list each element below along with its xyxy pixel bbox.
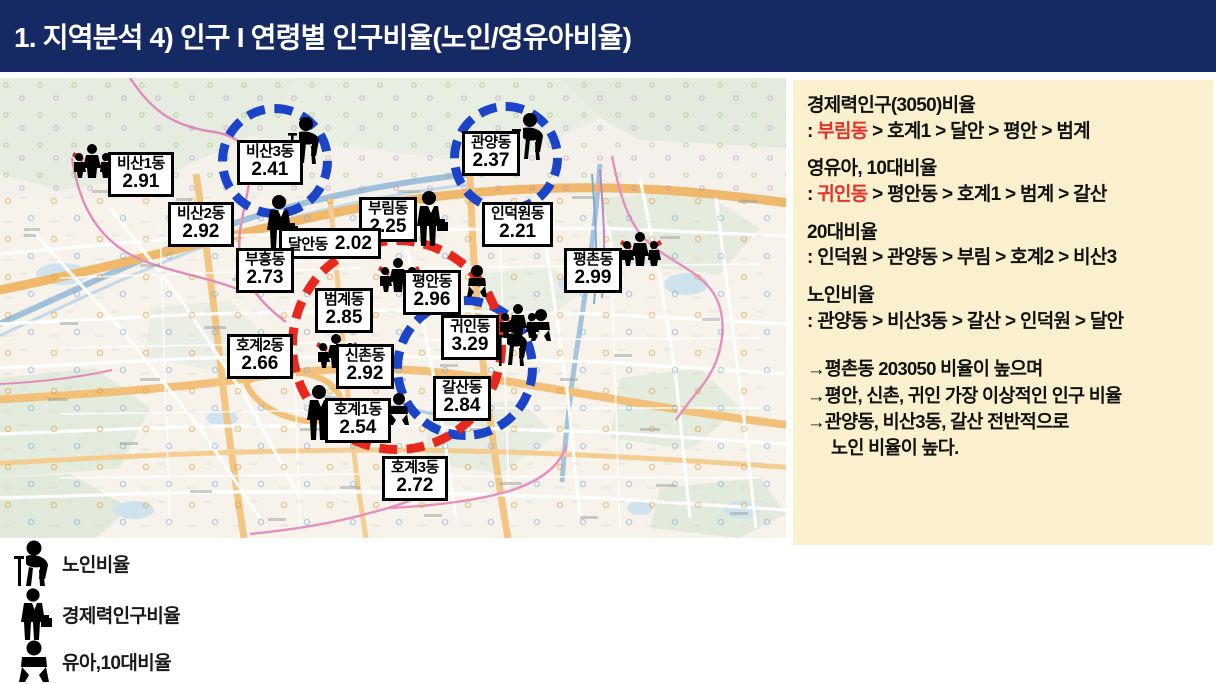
dong-value: 2.21 [491,222,544,241]
ranking-prefix: : [807,121,817,142]
dong-name: 달안동 [288,237,328,252]
dong-name: 범계동 [324,292,364,307]
dong-name: 갈산동 [442,380,482,395]
dong-label-galsan[interactable]: 갈산동 2.84 [433,376,491,421]
ranking-block-elderly: 노인비율 : 관양동 > 비산3동 > 갈산 > 인덕원 > 달안 [807,284,1203,334]
dong-value: 2.54 [334,418,382,437]
dong-label-pyeongchon[interactable]: 평촌동 2.99 [564,248,622,293]
legend-label: 경제력인구비율 [62,601,180,628]
ranking-block-20s: 20대비율 : 인덕원 > 관양동 > 부림 > 호계2 > 비산3 [807,221,1203,271]
conclusion-list: →평촌동 203050 비율이 높으며 →평안, 신촌, 귀인 가장 이상적인 … [807,356,1203,461]
ranking-top-item: 부림동 [817,121,867,142]
dong-label-hogye3[interactable]: 호계3동 2.72 [382,456,448,501]
dong-value: 2.72 [391,476,439,495]
dong-name: 평촌동 [573,252,613,267]
baby-icon [6,640,62,682]
dong-value: 3.29 [450,335,490,354]
dong-name: 비산1동 [117,156,165,171]
dong-label-hogye2[interactable]: 호계2동 2.66 [227,334,293,379]
legend-label: 노인비율 [62,550,130,577]
ranking-list: : 관양동 > 비산3동 > 갈산 > 인덕원 > 달안 [807,309,1203,335]
analysis-summary-panel: 경제력인구(3050)비율 : 부림동 > 호계1 > 달안 > 평안 > 범계… [793,80,1213,545]
ranking-rest: 관양동 > 비산3동 > 갈산 > 인덕원 > 달안 [817,311,1123,332]
ranking-prefix: : [807,184,817,205]
elderly-icon [6,540,62,586]
dong-value: 2.99 [573,268,613,287]
dong-value: 2.92 [345,364,385,383]
dong-name: 인덕원동 [491,206,544,221]
ranking-list: : 인덕원 > 관양동 > 부림 > 호계2 > 비산3 [807,245,1203,271]
dong-label-gwanyang[interactable]: 관양동 2.37 [462,131,520,176]
dong-name: 부흥동 [245,252,285,267]
dong-label-gwiin[interactable]: 귀인동 3.29 [441,315,499,360]
ranking-block-infant-teen: 영유아, 10대비율 : 귀인동 > 평안동 > 호계1 > 범계 > 갈산 [807,157,1203,207]
legend-item-economic: 경제력인구비율 [6,588,180,640]
ranking-heading: 영유아, 10대비율 [807,157,1203,182]
ranking-rest: 인덕원 > 관양동 > 부림 > 호계2 > 비산3 [817,247,1116,268]
legend-item-elderly: 노인비율 [6,540,130,586]
dong-value: 2.41 [246,160,294,179]
dong-label-sinchon[interactable]: 신촌동 2.92 [336,344,394,389]
dong-name: 비산3동 [246,144,294,159]
dong-value: 2.92 [177,222,225,241]
worker-icon [6,588,62,640]
dong-label-indeogwon[interactable]: 인덕원동 2.21 [482,202,553,247]
dong-label-bisan3[interactable]: 비산3동 2.41 [237,140,303,185]
dong-name: 관양동 [471,135,511,150]
dong-value: 2.85 [324,308,364,327]
ranking-block-economic: 경제력인구(3050)비율 : 부림동 > 호계1 > 달안 > 평안 > 범계 [807,94,1203,144]
dong-value: 2.96 [412,290,452,309]
dong-name: 호계2동 [236,338,284,353]
slide-canvas: 1. 지역분석 4) 인구 I 연령별 인구비율(노인/영유아비율) [0,0,1216,684]
ranking-rest: > 평안동 > 호계1 > 범계 > 갈산 [868,184,1107,205]
dong-name: 평안동 [412,274,452,289]
ranking-heading: 20대비율 [807,221,1203,246]
ranking-prefix: : [807,311,817,332]
ranking-top-item: 귀인동 [817,184,867,205]
dong-name: 부림동 [368,201,408,216]
ranking-rest: > 호계1 > 달안 > 평안 > 범계 [868,121,1090,142]
page-title: 1. 지역분석 4) 인구 I 연령별 인구비율(노인/영유아비율) [14,16,631,56]
ranking-prefix: : [807,247,817,268]
dong-label-beomgye[interactable]: 범계동 2.85 [315,288,373,333]
dong-value: 2.02 [335,234,372,253]
dong-label-buheung[interactable]: 부흥동 2.73 [236,248,294,293]
ranking-heading: 경제력인구(3050)비율 [807,94,1203,119]
ranking-list: : 귀인동 > 평안동 > 호계1 > 범계 > 갈산 [807,182,1203,208]
dong-value: 2.91 [117,172,165,191]
dong-name: 호계3동 [391,460,439,475]
dong-name: 비산2동 [177,206,225,221]
dong-label-bisan2[interactable]: 비산2동 2.92 [168,202,234,247]
legend-item-infant: 유아,10대비율 [6,640,171,682]
dong-value: 2.84 [442,396,482,415]
dong-value: 2.37 [471,151,511,170]
dong-label-bisan1[interactable]: 비산1동 2.91 [108,152,174,197]
legend-label: 유아,10대비율 [62,648,171,675]
conclusion-line: 노인 비율이 높다. [807,435,1203,461]
ranking-list: : 부림동 > 호계1 > 달안 > 평안 > 범계 [807,119,1203,145]
dong-value: 2.66 [236,354,284,373]
dong-label-hogye1[interactable]: 호계1동 2.54 [325,398,391,443]
dong-label-pyeongan[interactable]: 평안동 2.96 [403,270,461,315]
conclusion-line: →평촌동 203050 비율이 높으며 [807,356,1203,382]
dong-value: 2.73 [245,268,285,287]
dong-name: 귀인동 [450,319,490,334]
ranking-heading: 노인비율 [807,284,1203,309]
dong-label-daran[interactable]: 달안동 2.02 [279,228,381,259]
conclusion-line: →평안, 신촌, 귀인 가장 이상적인 인구 비율 [807,383,1203,409]
region-map[interactable]: 비산1동 2.91 비산3동 2.41 관양동 2.37 비산2동 2.92 부… [0,78,786,538]
conclusion-line: →관양동, 비산3동, 갈산 전반적으로 [807,409,1203,435]
dong-name: 신촌동 [345,348,385,363]
dong-name: 호계1동 [334,402,382,417]
